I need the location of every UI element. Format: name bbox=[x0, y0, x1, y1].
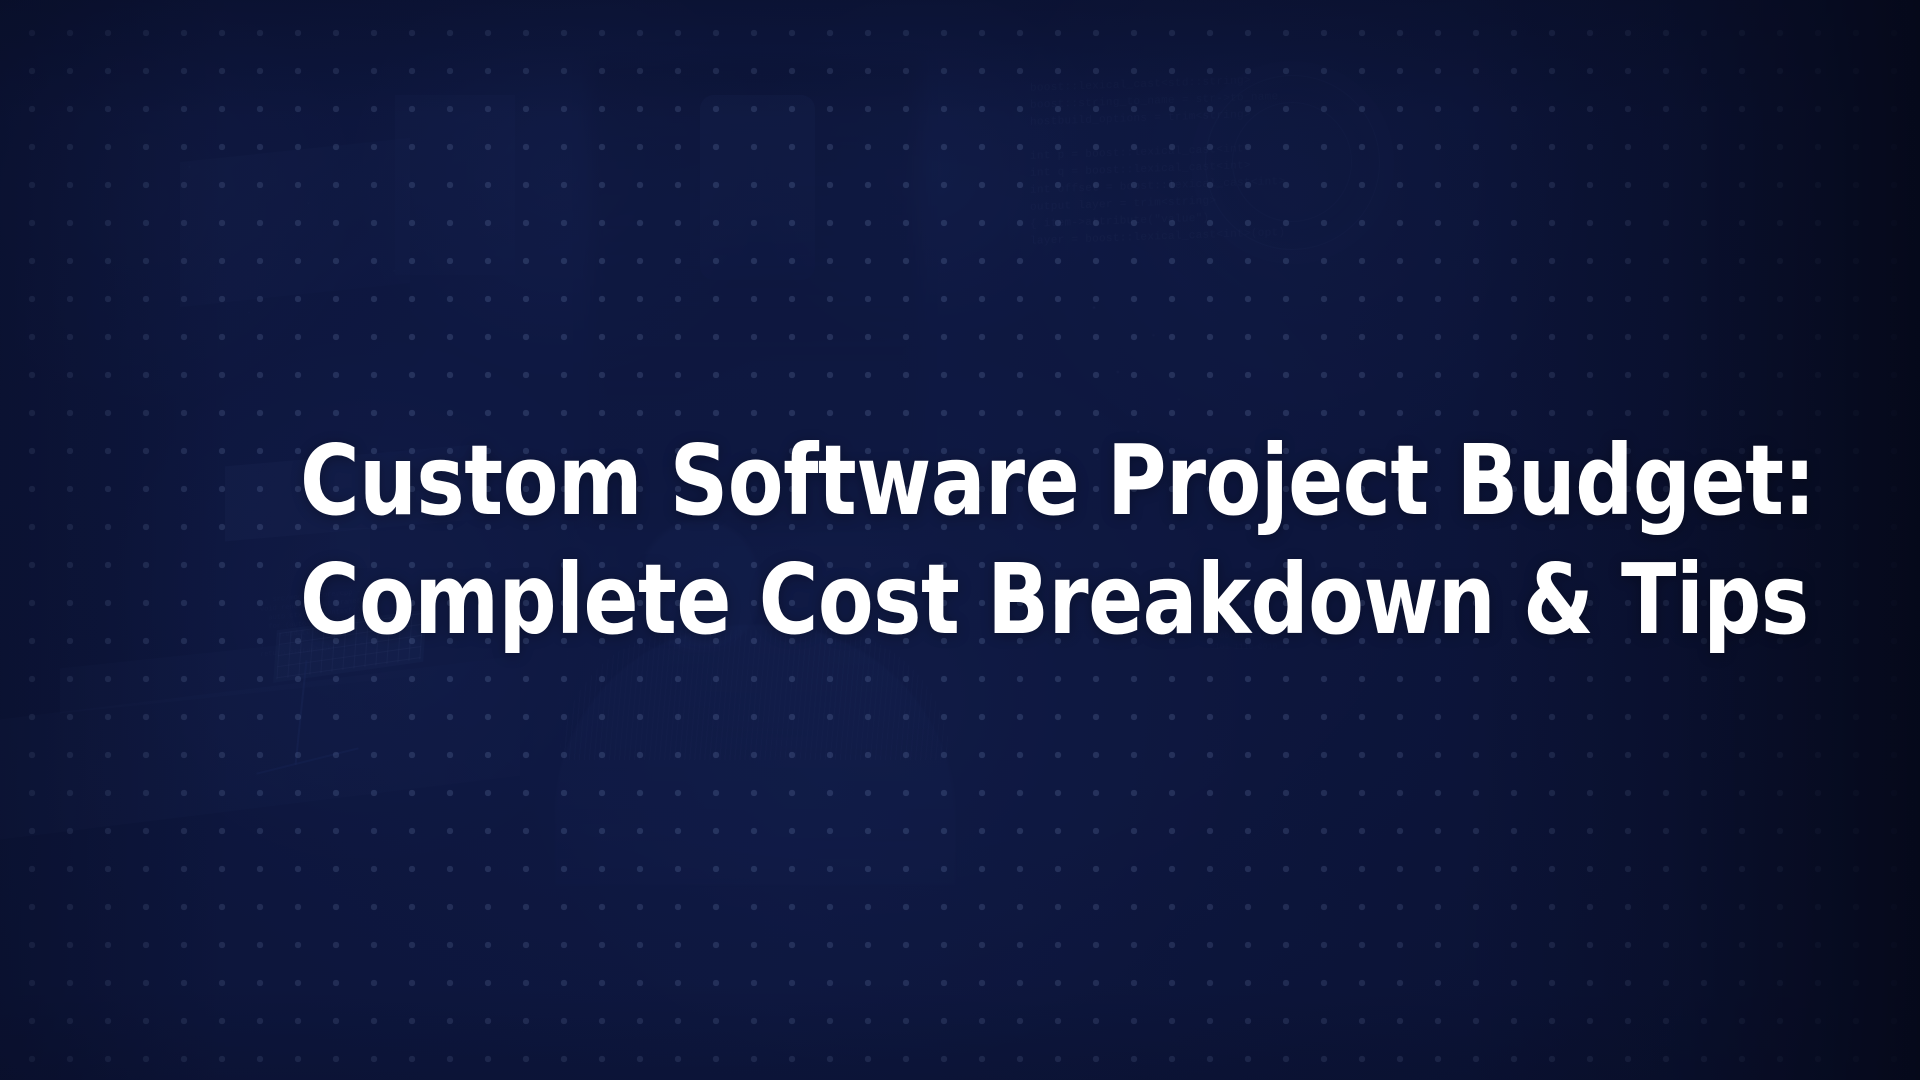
page-title: Custom Software Project Budget: Complete… bbox=[300, 421, 1621, 659]
headline-container: Custom Software Project Budget: Complete… bbox=[0, 0, 1920, 1080]
page-title-line-1: Custom Software Project Budget: bbox=[300, 421, 1621, 540]
page-title-line-2: Complete Cost Breakdown & Tips bbox=[300, 540, 1621, 659]
hero-banner: boost::lexical_cast<std::string> boost::… bbox=[0, 0, 1920, 1080]
